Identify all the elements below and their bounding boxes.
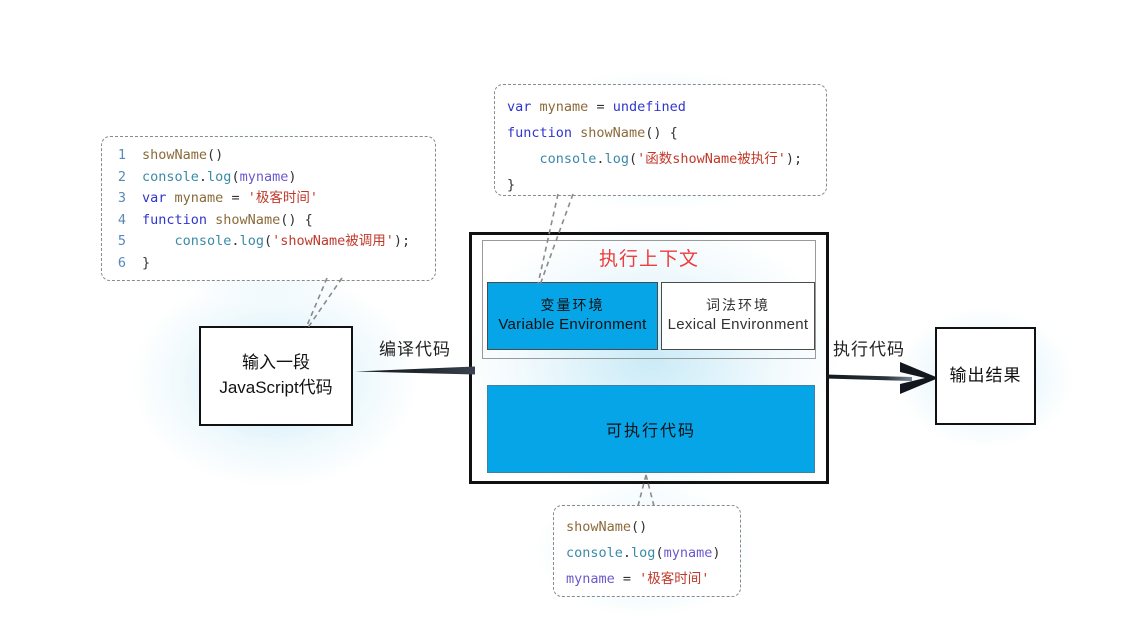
code-line: 3var myname = '极客时间' (112, 188, 423, 210)
code-token: = (615, 571, 639, 587)
code-token: log (605, 151, 629, 167)
code-line: 5 console.log('showName被调用'); (112, 231, 423, 253)
code-token (166, 190, 174, 206)
code-token: '极客时间' (248, 190, 318, 206)
code-token: . (623, 545, 631, 561)
lexical-environment-label-en: Lexical Environment (668, 315, 809, 335)
code-line: console.log('函数showName被执行'); (507, 146, 814, 172)
code-token: } (142, 255, 150, 271)
code-line-number: 3 (112, 188, 126, 210)
input-code-line-2: JavaScript代码 (219, 376, 332, 401)
executable-code-box: 可执行代码 (487, 385, 815, 473)
execute-arrow (826, 358, 941, 398)
code-line: function showName() { (507, 120, 814, 146)
code-line-number: 6 (112, 253, 126, 275)
code-line: 6} (112, 253, 423, 275)
code-line: 2console.log(myname) (112, 167, 423, 189)
code-token: = (223, 190, 247, 206)
code-token: console (540, 151, 597, 167)
code-token: showName (215, 212, 280, 228)
code-token: . (231, 233, 239, 249)
code-line-number: 1 (112, 145, 126, 167)
code-token: showName (566, 519, 631, 535)
code-token: ) (288, 169, 296, 185)
code-token: ); (786, 151, 802, 167)
code-token: ); (394, 233, 410, 249)
code-token: myname (566, 571, 615, 587)
code-token: var (507, 99, 531, 115)
code-token: function (142, 212, 207, 228)
code-token: '函数showName被执行' (637, 151, 786, 167)
code-token: () (631, 519, 647, 535)
executable-code-bubble: showName()console.log(myname)myname = '极… (553, 505, 741, 597)
executable-code-listing: showName()console.log(myname)myname = '极… (566, 514, 728, 592)
variable-environment-box: 变量环境 Variable Environment (487, 282, 658, 350)
code-token: showName (580, 125, 645, 141)
code-line: myname = '极客时间' (566, 566, 728, 592)
code-token: log (240, 233, 264, 249)
code-token: console (142, 169, 199, 185)
code-token: ) (712, 545, 720, 561)
code-token (142, 233, 175, 249)
code-line: showName() (566, 514, 728, 540)
code-token: ( (655, 545, 663, 561)
code-token: var (142, 190, 166, 206)
code-token (572, 125, 580, 141)
code-token: myname (540, 99, 589, 115)
code-token: = (588, 99, 612, 115)
output-result-box: 输出结果 (935, 327, 1036, 425)
variable-environment-listing: var myname = undefinedfunction showName(… (507, 94, 814, 198)
code-token: undefined (613, 99, 686, 115)
variable-environment-bubble-tail (520, 192, 590, 288)
code-token: ( (264, 233, 272, 249)
variable-environment-label-cn: 变量环境 (541, 296, 605, 315)
code-token: . (596, 151, 604, 167)
code-token: () (207, 147, 223, 163)
executable-code-bubble-tail (624, 473, 670, 509)
code-token: log (207, 169, 231, 185)
execute-arrow-label: 执行代码 (833, 335, 905, 360)
code-token: myname (175, 190, 224, 206)
code-line-number: 4 (112, 210, 126, 232)
code-token: showName (142, 147, 207, 163)
code-token: function (507, 125, 572, 141)
code-token (507, 151, 540, 167)
code-token: myname (664, 545, 713, 561)
code-line-number: 2 (112, 167, 126, 189)
code-line: var myname = undefined (507, 94, 814, 120)
variable-environment-label-en: Variable Environment (498, 315, 646, 335)
code-line: 4function showName() { (112, 210, 423, 232)
code-line-number: 5 (112, 231, 126, 253)
code-token: '极客时间' (639, 571, 709, 587)
code-token: () { (280, 212, 313, 228)
diagram-canvas: 1showName()2console.log(myname)3var myna… (0, 0, 1142, 634)
source-code-listing: 1showName()2console.log(myname)3var myna… (112, 145, 423, 274)
lexical-environment-box: 词法环境 Lexical Environment (661, 282, 815, 350)
source-bubble-tail (295, 276, 355, 332)
code-token: console (566, 545, 623, 561)
code-token: log (631, 545, 655, 561)
code-token (207, 212, 215, 228)
code-token: () { (645, 125, 678, 141)
code-line: console.log(myname) (566, 540, 728, 566)
code-token: 'showName被调用' (272, 233, 394, 249)
variable-environment-bubble: var myname = undefinedfunction showName(… (494, 84, 827, 196)
code-token: . (199, 169, 207, 185)
input-code-box: 输入一段 JavaScript代码 (199, 326, 353, 426)
input-code-line-1: 输入一段 (242, 351, 310, 376)
code-token: console (175, 233, 232, 249)
code-token: } (507, 177, 515, 193)
code-token: ( (629, 151, 637, 167)
code-token: myname (240, 169, 289, 185)
code-token (531, 99, 539, 115)
lexical-environment-label-cn: 词法环境 (706, 296, 770, 315)
source-code-bubble: 1showName()2console.log(myname)3var myna… (101, 136, 436, 281)
code-line: 1showName() (112, 145, 423, 167)
compile-arrow (355, 360, 475, 382)
compile-arrow-label: 编译代码 (379, 335, 451, 360)
code-token: ( (231, 169, 239, 185)
